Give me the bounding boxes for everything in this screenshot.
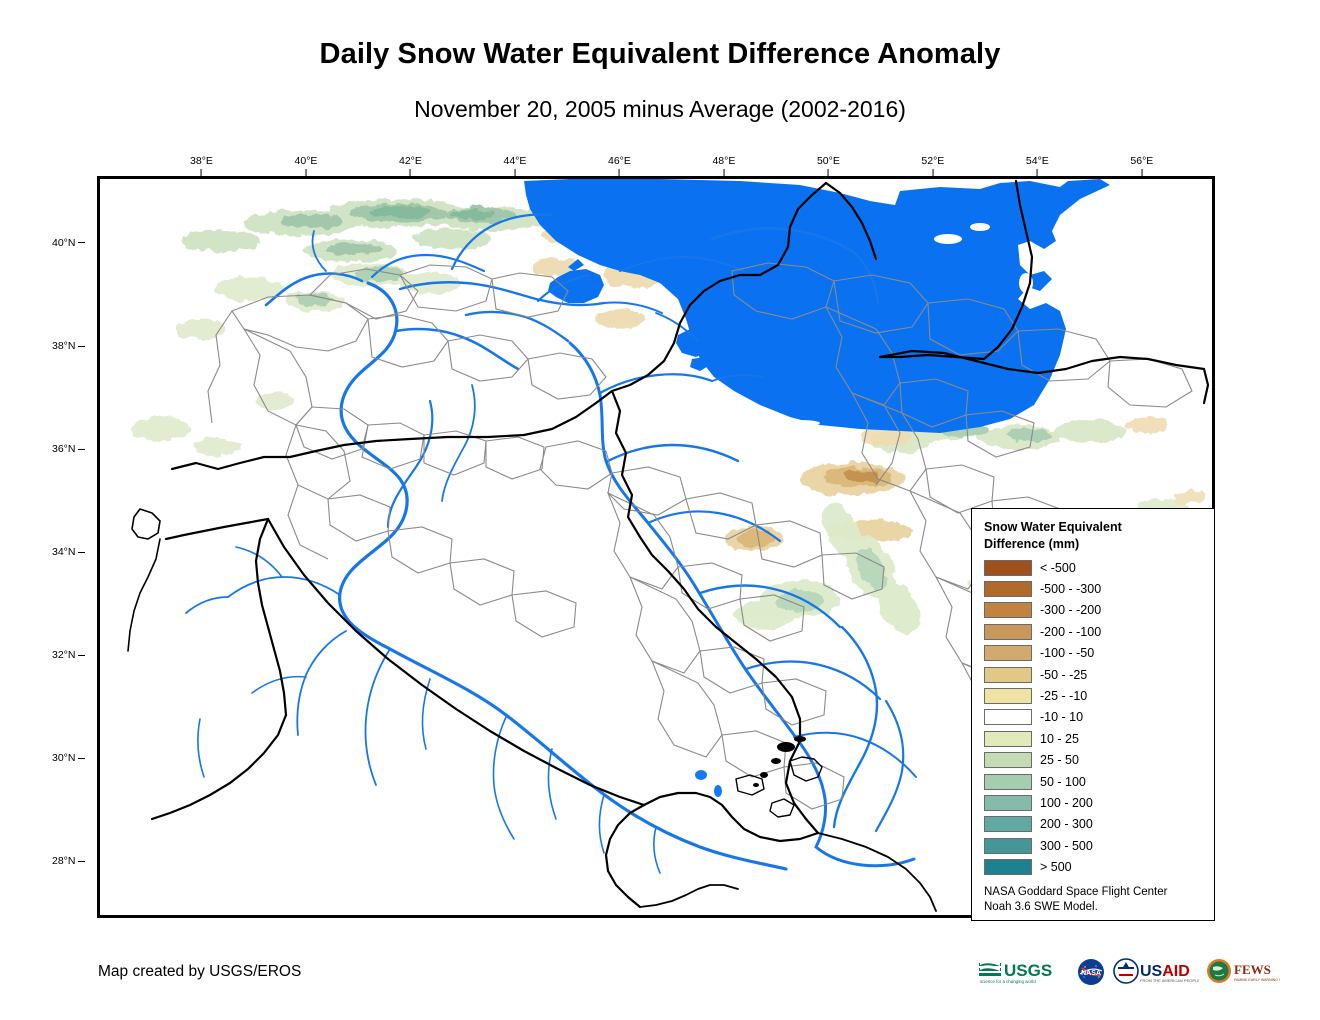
usaid-logo: USAID FROM THE AMERICAN PEOPLE [1113, 957, 1199, 987]
svg-text:FAMINE EARLY WARNING SYSTEMS N: FAMINE EARLY WARNING SYSTEMS NETWORK [1234, 978, 1280, 982]
tick-mark [78, 242, 85, 243]
legend-title-line1: Snow Water Equivalent [984, 519, 1204, 536]
legend-swatch [984, 560, 1032, 576]
lon-tick: 48°E [712, 155, 735, 176]
legend-label: -25 - -10 [1040, 689, 1087, 703]
svg-text:USGS: USGS [1004, 961, 1052, 980]
legend-source-line2: Noah 3.6 SWE Model. [984, 900, 1204, 915]
lon-tick-label: 56°E [1130, 155, 1153, 167]
lat-tick: 32°N [52, 649, 85, 661]
legend-label: 25 - 50 [1040, 753, 1079, 767]
legend-label: -10 - 10 [1040, 710, 1083, 724]
legend-row[interactable]: 50 - 100 [984, 771, 1204, 792]
legend-row[interactable]: 200 - 300 [984, 814, 1204, 835]
tick-mark [410, 169, 411, 176]
lat-tick: 30°N [52, 752, 85, 764]
tick-mark [78, 655, 85, 656]
lon-tick: 40°E [295, 155, 318, 176]
lat-tick: 36°N [52, 443, 85, 455]
legend-swatch [984, 731, 1032, 747]
legend-swatch [984, 709, 1032, 725]
lat-tick-label: 32°N [52, 649, 75, 661]
legend-swatch [984, 859, 1032, 875]
lon-tick-label: 46°E [608, 155, 631, 167]
tick-mark [201, 169, 202, 176]
legend-title-line2: Difference (mm) [984, 536, 1204, 553]
lat-tick-label: 34°N [52, 546, 75, 558]
lat-tick: 38°N [52, 340, 85, 352]
legend-label: < -500 [1040, 561, 1076, 575]
tick-mark [619, 169, 620, 176]
lon-tick: 44°E [503, 155, 526, 176]
legend-row[interactable]: -100 - -50 [984, 643, 1204, 664]
legend-row[interactable]: -500 - -300 [984, 578, 1204, 599]
tick-mark [78, 346, 85, 347]
svg-text:science for a changing world: science for a changing world [980, 979, 1036, 984]
lon-tick-label: 54°E [1026, 155, 1049, 167]
legend-label: 10 - 25 [1040, 732, 1079, 746]
legend-row[interactable]: -200 - -100 [984, 621, 1204, 642]
legend-label: -200 - -100 [1040, 625, 1101, 639]
lon-tick-label: 42°E [399, 155, 422, 167]
legend-row[interactable]: 25 - 50 [984, 750, 1204, 771]
legend-label: 200 - 300 [1040, 817, 1093, 831]
legend-swatch [984, 816, 1032, 832]
legend-swatch [984, 795, 1032, 811]
lon-tick-label: 50°E [817, 155, 840, 167]
tick-mark [514, 169, 515, 176]
lat-tick: 34°N [52, 546, 85, 558]
tick-mark [78, 449, 85, 450]
page-title: Daily Snow Water Equivalent Difference A… [0, 38, 1320, 71]
legend-source-line1: NASA Goddard Space Flight Center [984, 885, 1204, 900]
lat-tick-label: 38°N [52, 340, 75, 352]
legend-label: 50 - 100 [1040, 775, 1086, 789]
legend-label: 100 - 200 [1040, 796, 1093, 810]
lon-tick: 54°E [1026, 155, 1049, 176]
tick-mark [723, 169, 724, 176]
legend-row[interactable]: -25 - -10 [984, 685, 1204, 706]
tick-mark [1037, 169, 1038, 176]
tick-mark [78, 552, 85, 553]
fewsnet-logo: FEWS FAMINE EARLY WARNING SYSTEMS NETWOR… [1206, 957, 1280, 987]
usgs-logo: USGS science for a changing world [977, 957, 1069, 987]
lon-tick-label: 48°E [712, 155, 735, 167]
legend-row[interactable]: -10 - 10 [984, 707, 1204, 728]
tick-mark [305, 169, 306, 176]
legend-swatch [984, 624, 1032, 640]
legend-label: -50 - -25 [1040, 668, 1087, 682]
lon-tick: 38°E [190, 155, 213, 176]
map-credit: Map created by USGS/EROS [98, 963, 301, 981]
lat-tick: 40°N [52, 237, 85, 249]
lon-tick: 56°E [1130, 155, 1153, 176]
legend-label: -100 - -50 [1040, 646, 1094, 660]
lon-tick: 50°E [817, 155, 840, 176]
svg-text:FEWS: FEWS [1234, 962, 1271, 977]
legend-swatch [984, 688, 1032, 704]
lon-tick-label: 52°E [921, 155, 944, 167]
svg-text:NASA: NASA [1081, 970, 1101, 977]
legend-label: > 500 [1040, 860, 1072, 874]
legend-swatch [984, 774, 1032, 790]
legend-row[interactable]: -50 - -25 [984, 664, 1204, 685]
legend-swatch [984, 752, 1032, 768]
lon-tick: 42°E [399, 155, 422, 176]
legend-row[interactable]: -300 - -200 [984, 600, 1204, 621]
legend-swatch [984, 667, 1032, 683]
tick-mark [932, 169, 933, 176]
legend-swatch [984, 581, 1032, 597]
lat-tick-label: 28°N [52, 855, 75, 867]
legend-row[interactable]: < -500 [984, 557, 1204, 578]
tick-mark [78, 758, 85, 759]
legend-swatch [984, 602, 1032, 618]
legend-label: -500 - -300 [1040, 582, 1101, 596]
legend-row[interactable]: 10 - 25 [984, 728, 1204, 749]
legend-label: 300 - 500 [1040, 839, 1093, 853]
legend-label: -300 - -200 [1040, 603, 1101, 617]
legend-swatch [984, 838, 1032, 854]
lat-tick-label: 30°N [52, 752, 75, 764]
lat-tick: 28°N [52, 855, 85, 867]
lon-tick-label: 38°E [190, 155, 213, 167]
legend-row[interactable]: 100 - 200 [984, 792, 1204, 813]
legend-swatch [984, 645, 1032, 661]
tick-mark [828, 169, 829, 176]
legend-source: NASA Goddard Space Flight Center Noah 3.… [984, 885, 1204, 915]
lon-tick-label: 44°E [503, 155, 526, 167]
lat-tick-label: 40°N [52, 237, 75, 249]
legend-row[interactable]: 300 - 500 [984, 835, 1204, 856]
legend-row[interactable]: > 500 [984, 856, 1204, 877]
legend-title: Snow Water Equivalent Difference (mm) [984, 519, 1204, 552]
tick-mark [1141, 169, 1142, 176]
lon-tick: 52°E [921, 155, 944, 176]
tick-mark [78, 861, 85, 862]
agency-logo-bar: USGS science for a changing world NASA U… [977, 957, 1280, 987]
legend-panel[interactable]: Snow Water Equivalent Difference (mm) < … [971, 508, 1215, 921]
page-subtitle: November 20, 2005 minus Average (2002-20… [0, 96, 1320, 123]
legend-class-list: < -500-500 - -300-300 - -200-200 - -100-… [984, 557, 1204, 878]
lon-tick: 46°E [608, 155, 631, 176]
nasa-logo: NASA [1076, 957, 1106, 987]
lon-tick-label: 40°E [295, 155, 318, 167]
lat-tick-label: 36°N [52, 443, 75, 455]
svg-text:FROM THE AMERICAN PEOPLE: FROM THE AMERICAN PEOPLE [1140, 978, 1199, 983]
